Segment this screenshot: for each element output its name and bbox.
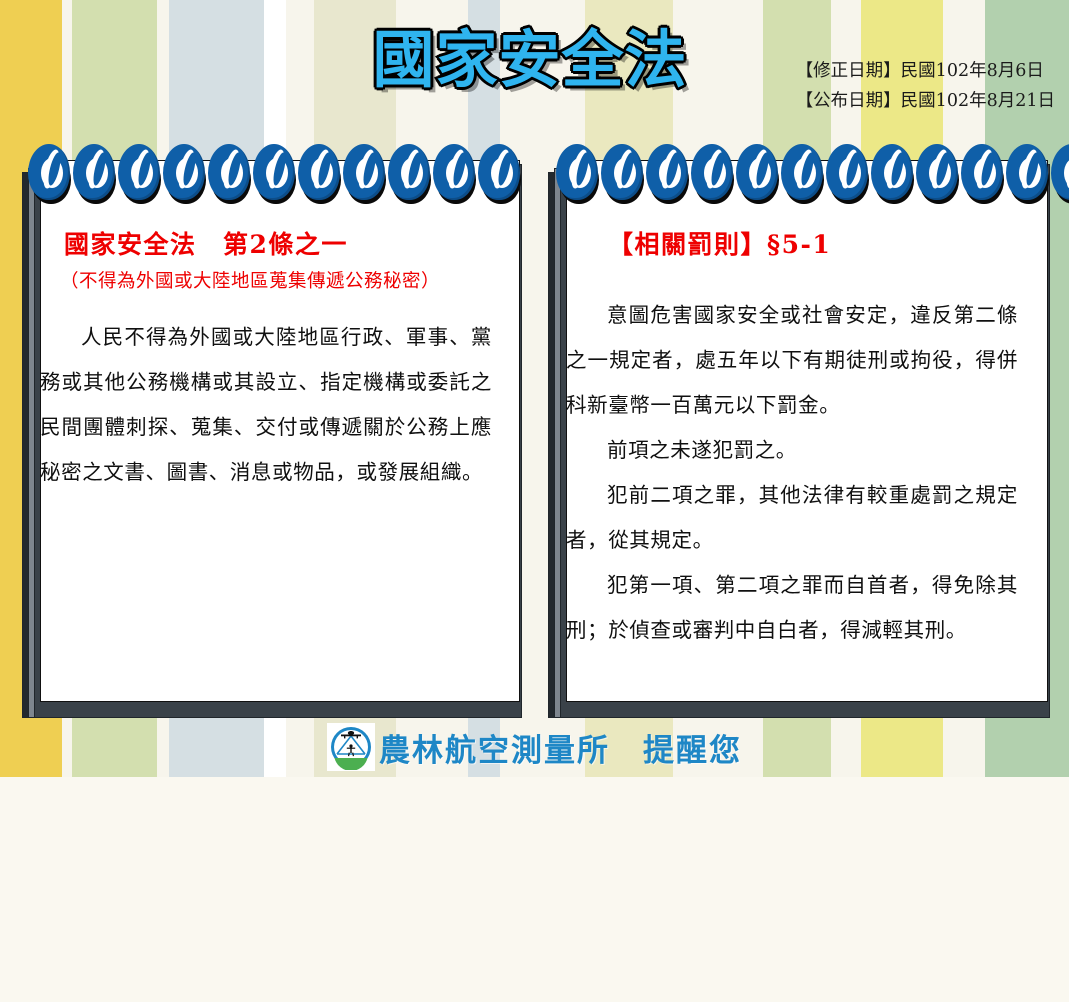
page-title-text: 國家安全法 xyxy=(300,28,760,92)
right-card-heading: 【相關罰則】§5-1 xyxy=(566,225,1036,261)
right-card-content: 【相關罰則】§5-1 意圖危害國家安全或社會安定，違反第二條之一規定者，處五年以… xyxy=(566,225,1036,1002)
promulgated-date: 【公布日期】民國102年8月21日 xyxy=(796,86,1055,116)
paragraph: 人民不得為外國或大陸地區行政、軍事、黨務或其他公務機構或其設立、指定機構或委託之… xyxy=(40,315,492,495)
aerial-survey-office-logo xyxy=(327,723,375,771)
paragraph: 犯第一項、第二項之罪而自首者，得免除其刑；於偵查或審判中自白者，得減輕其刑。 xyxy=(566,563,1018,653)
paragraph: 意圖危害國家安全或社會安定，違反第二條之一規定者，處五年以下有期徒刑或拘役，得併… xyxy=(566,293,1018,428)
paragraph: 犯前二項之罪，其他法律有較重處罰之規定者，從其規定。 xyxy=(566,473,1018,563)
left-card-heading: 國家安全法 第2條之一 xyxy=(40,225,510,261)
date-block: 【修正日期】民國102年8月6日 【公布日期】民國102年8月21日 xyxy=(796,56,1055,116)
footer-text: 農林航空測量所 提醒您 xyxy=(379,725,742,770)
footer: 農林航空測量所 提醒您 xyxy=(0,723,1069,771)
right-card-body: 意圖危害國家安全或社會安定，違反第二條之一規定者，處五年以下有期徒刑或拘役，得併… xyxy=(566,293,1018,653)
logo-svg xyxy=(328,724,374,770)
paragraph: 前項之未遂犯罰之。 xyxy=(566,428,1018,473)
page-title: 國家安全法 xyxy=(300,28,760,92)
left-card-body: 人民不得為外國或大陸地區行政、軍事、黨務或其他公務機構或其設立、指定機構或委託之… xyxy=(40,315,492,495)
left-card-content: 國家安全法 第2條之一 （不得為外國或大陸地區蒐集傳遞公務秘密） 人民不得為外國… xyxy=(40,225,510,1002)
left-card-subheading: （不得為外國或大陸地區蒐集傳遞公務秘密） xyxy=(40,267,510,293)
amended-date: 【修正日期】民國102年8月6日 xyxy=(796,56,1055,86)
